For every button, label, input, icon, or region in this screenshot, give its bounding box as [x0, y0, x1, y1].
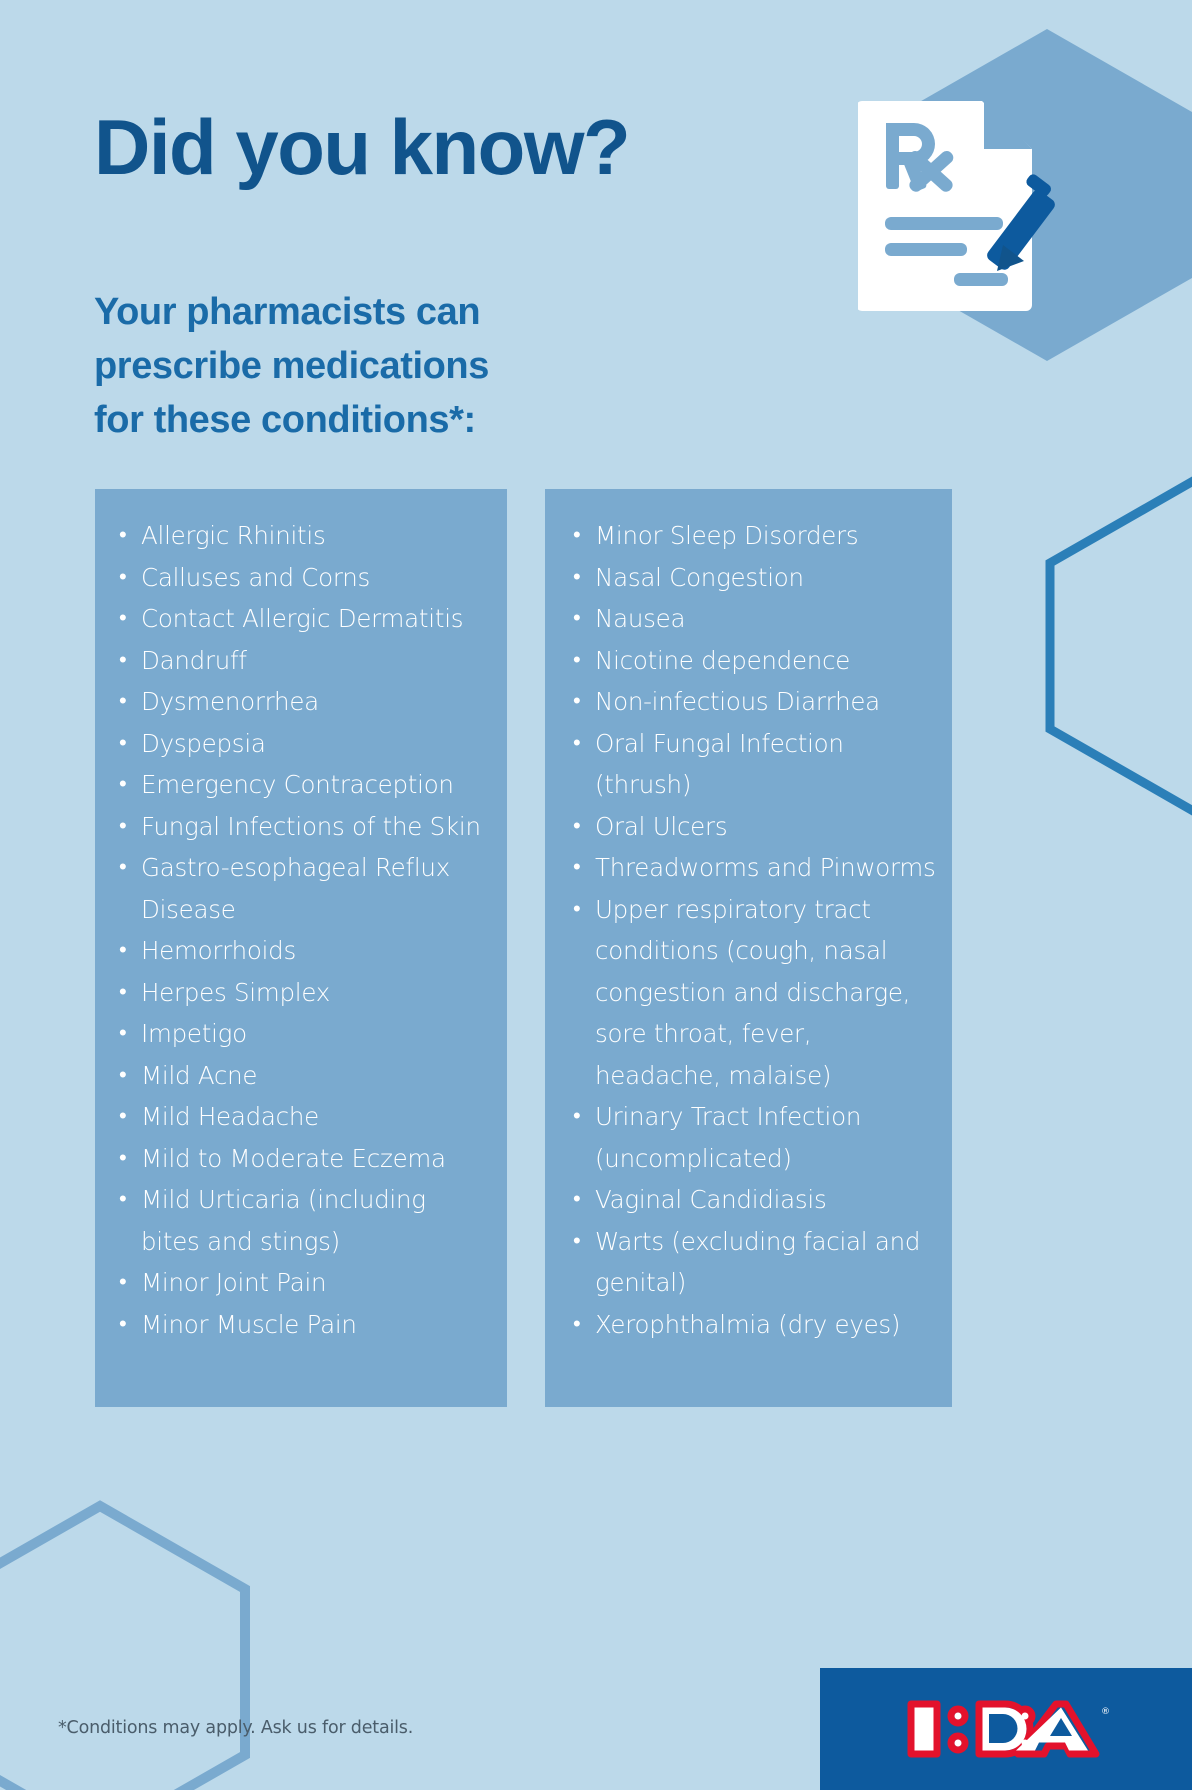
list-item: Nasal Congestion — [567, 557, 940, 599]
list-item: Mild Urticaria (including bites and stin… — [113, 1179, 491, 1262]
list-item: Minor Muscle Pain — [113, 1304, 491, 1346]
conditions-panel-left: Allergic Rhinitis Calluses and Corns Con… — [95, 489, 507, 1407]
list-item: Minor Sleep Disorders — [567, 515, 940, 557]
registered-mark: ® — [1101, 1707, 1110, 1717]
list-item: Warts (excluding facial and genital) — [567, 1221, 940, 1304]
list-item: Mild Acne — [113, 1055, 491, 1097]
list-item: Xerophthalmia (dry eyes) — [567, 1304, 940, 1346]
list-item: Dyspepsia — [113, 723, 491, 765]
list-item: Mild Headache — [113, 1096, 491, 1138]
list-item: Emergency Contraception — [113, 764, 491, 806]
list-item: Allergic Rhinitis — [113, 515, 491, 557]
conditions-panel-right: Minor Sleep Disorders Nasal Congestion N… — [545, 489, 952, 1407]
list-item: Mild to Moderate Eczema — [113, 1138, 491, 1180]
ida-logo-box: ® — [820, 1668, 1192, 1790]
list-item: Fungal Infections of the Skin — [113, 806, 491, 848]
list-item: Dandruff — [113, 640, 491, 682]
list-item: Calluses and Corns — [113, 557, 491, 599]
page-subtitle: Your pharmacists can prescribe medicatio… — [94, 286, 654, 448]
document-fold — [984, 101, 1032, 149]
ida-logo-icon: ® — [901, 1696, 1111, 1762]
list-item: Oral Ulcers — [567, 806, 940, 848]
conditions-list-right: Minor Sleep Disorders Nasal Congestion N… — [567, 515, 940, 1345]
list-item: Threadworms and Pinworms — [567, 847, 940, 889]
list-item: Upper respiratory tract conditions (coug… — [567, 889, 940, 1097]
list-item: Hemorrhoids — [113, 930, 491, 972]
subtitle-line-3: for these conditions*: — [94, 394, 654, 448]
footnote-text: *Conditions may apply. Ask us for detail… — [58, 1718, 413, 1738]
document-line — [885, 243, 967, 256]
conditions-list-left: Allergic Rhinitis Calluses and Corns Con… — [113, 515, 491, 1345]
hexagon-shape — [0, 1506, 245, 1790]
list-item: Minor Joint Pain — [113, 1262, 491, 1304]
page-title: Did you know? — [94, 108, 629, 186]
list-item: Oral Fungal Infection (thrush) — [567, 723, 940, 806]
signature-line — [954, 273, 1008, 286]
subtitle-line-1: Your pharmacists can — [94, 286, 654, 340]
hexagon-shape — [1050, 480, 1192, 812]
list-item: Herpes Simplex — [113, 972, 491, 1014]
list-item: Non-infectious Diarrhea — [567, 681, 940, 723]
list-item: Dysmenorrhea — [113, 681, 491, 723]
list-item: Impetigo — [113, 1013, 491, 1055]
subtitle-line-2: prescribe medications — [94, 340, 654, 394]
poster-root: Did you know? Your pharmacists can presc… — [0, 0, 1192, 1790]
list-item: Nausea — [567, 598, 940, 640]
prescription-document-icon — [858, 95, 1058, 315]
list-item: Vaginal Candidiasis — [567, 1179, 940, 1221]
list-item: Gastro-esophageal Reflux Disease — [113, 847, 491, 930]
list-item: Nicotine dependence — [567, 640, 940, 682]
list-item: Contact Allergic Dermatitis — [113, 598, 491, 640]
list-item: Urinary Tract Infection (uncomplicated) — [567, 1096, 940, 1179]
document-line — [885, 217, 1003, 230]
